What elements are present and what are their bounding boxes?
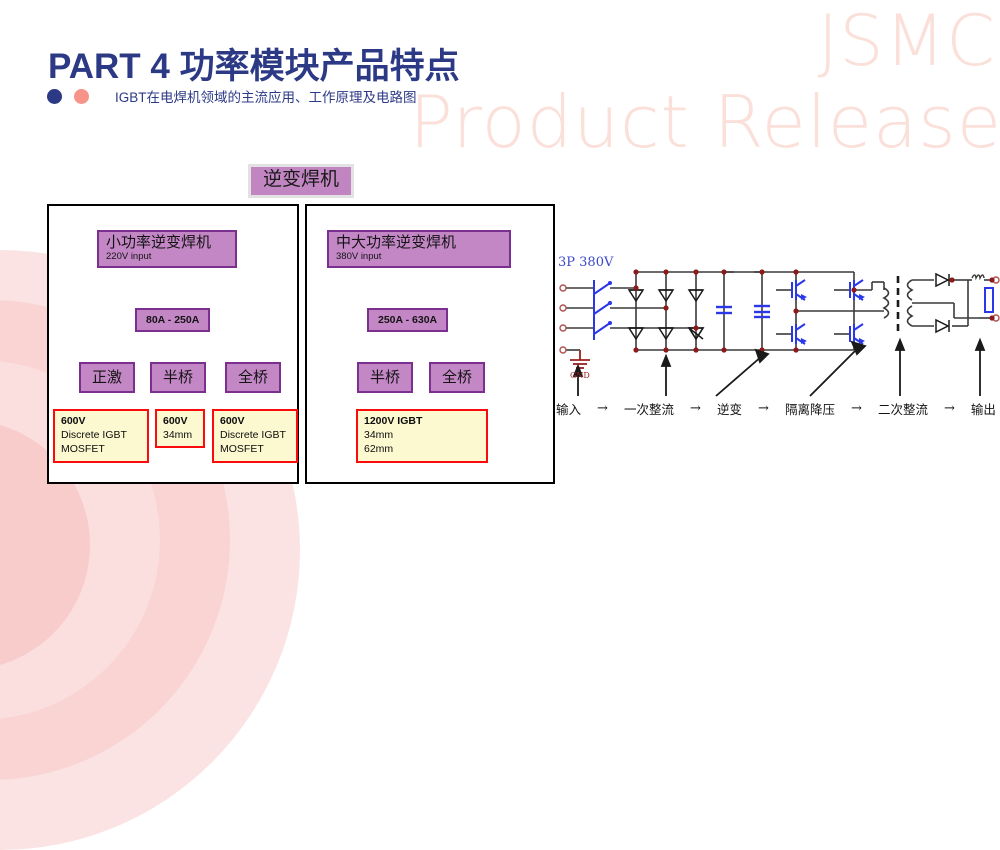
flow-arrow-icon: → <box>758 401 769 416</box>
flow-arrow-icon: → <box>851 401 862 416</box>
flow-step-isolation: 隔离降压 <box>785 399 835 418</box>
spec-box-1200v: 1200V IGBT 34mm 62mm <box>356 409 488 463</box>
node-topology-forward: 正激 <box>79 362 135 393</box>
flow-step-inverter: 逆变 <box>717 399 742 418</box>
node-topology-half-bridge: 半桥 <box>150 362 206 393</box>
node-current-range-high: 250A - 630A <box>367 308 448 332</box>
page-subtitle: IGBT在电焊机领域的主流应用、工作原理及电路图 <box>115 86 417 106</box>
flow-step-secondary-rect: 二次整流 <box>878 399 928 418</box>
node-topology-half-bridge: 半桥 <box>357 362 413 393</box>
node-title-cn: 小功率逆变焊机 <box>106 234 228 251</box>
section-heading-chip: 逆变焊机 <box>248 164 354 198</box>
spec-line: 62mm <box>364 442 481 456</box>
watermark-tagline: Product Release <box>409 86 1000 158</box>
node-title-en: 380V input <box>336 251 502 263</box>
spec-box-forward: 600V Discrete IGBT MOSFET <box>53 409 149 463</box>
watermark-brand: JSMC <box>818 6 996 76</box>
breaker-icon <box>594 280 610 340</box>
panel-mid-high-power: 中大功率逆变焊机 380V input 250A - 630A 半桥 全桥 12… <box>305 204 555 484</box>
bullet-dot-pink <box>74 89 89 104</box>
bullet-dot-navy <box>47 89 62 104</box>
node-topology-full-bridge: 全桥 <box>429 362 485 393</box>
subtitle-row: IGBT在电焊机领域的主流应用、工作原理及电路图 <box>47 86 417 106</box>
spec-voltage: 600V <box>163 414 198 428</box>
spec-box-half-bridge: 600V 34mm <box>155 409 205 448</box>
ground-label: GND <box>570 371 590 380</box>
spec-line: 34mm <box>163 428 198 442</box>
spec-voltage: 1200V IGBT <box>364 414 481 428</box>
spec-line: MOSFET <box>220 442 291 456</box>
spec-line: Discrete IGBT <box>220 428 291 442</box>
page-title: PART 4 功率模块产品特点 <box>48 38 460 89</box>
flow-arrow-icon: → <box>944 401 955 416</box>
node-title-low-power: 小功率逆变焊机 220V input <box>97 230 237 268</box>
panel-low-power: 小功率逆变焊机 220V input 80A - 250A 正激 半桥 全桥 6… <box>47 204 299 484</box>
spec-box-full-bridge: 600V Discrete IGBT MOSFET <box>212 409 298 463</box>
node-title-mid-high-power: 中大功率逆变焊机 380V input <box>327 230 511 268</box>
node-title-en: 220V input <box>106 251 228 263</box>
node-topology-full-bridge: 全桥 <box>225 362 281 393</box>
node-title-cn: 中大功率逆变焊机 <box>336 234 502 251</box>
flow-step-input: 输入 <box>556 399 581 418</box>
flow-step-primary-rect: 一次整流 <box>624 399 674 418</box>
spec-voltage: 600V <box>220 414 291 428</box>
flow-arrow-icon: → <box>597 401 608 416</box>
load-resistor-icon <box>985 288 993 312</box>
supply-label: 3P 380V <box>558 255 614 270</box>
spec-line: 34mm <box>364 428 481 442</box>
node-current-range-low: 80A - 250A <box>135 308 210 332</box>
flow-arrow-icon: → <box>690 401 701 416</box>
flow-step-output: 输出 <box>971 399 996 418</box>
process-flow-row: 输入 → 一次整流 → 逆变 → 隔离降压 → 二次整流 → 输出 <box>556 399 996 418</box>
spec-line: MOSFET <box>61 442 142 456</box>
spec-voltage: 600V <box>61 414 142 428</box>
spec-line: Discrete IGBT <box>61 428 142 442</box>
ground-icon <box>570 350 590 368</box>
